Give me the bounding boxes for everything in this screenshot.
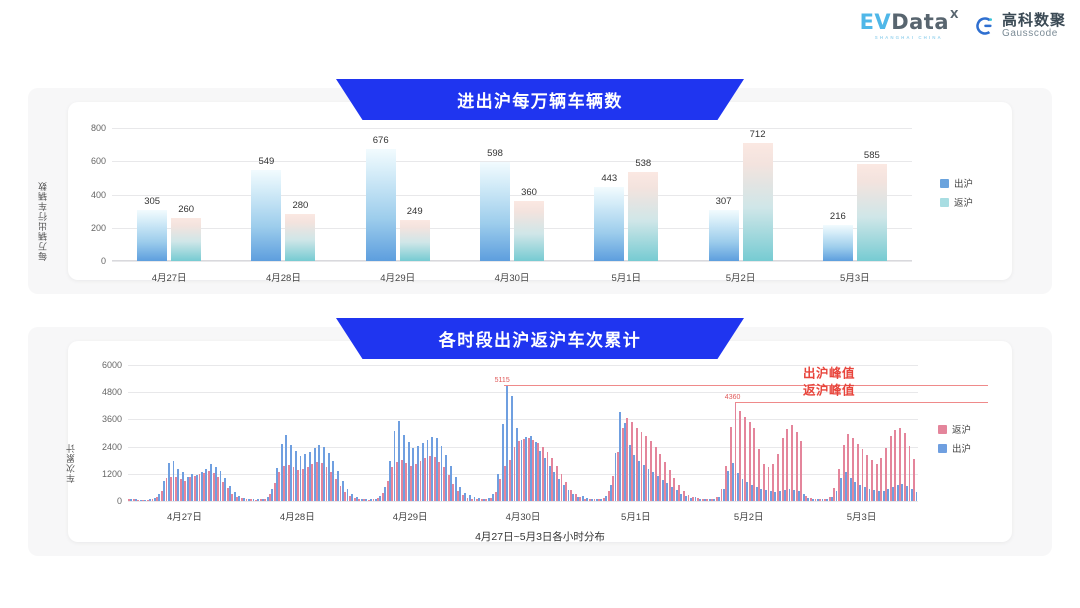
evdata-superscript: X <box>950 9 959 20</box>
slide-canvas: EVDataX SHANGHAI CHINA 高科数聚 Gausscode 进出… <box>0 0 1080 608</box>
y-axis-tick-label: 4800 <box>86 387 122 397</box>
bar-back[interactable]: 360 <box>514 201 544 261</box>
bar-value-label: 305 <box>144 196 160 207</box>
bar-out[interactable]: 443 <box>594 187 624 261</box>
bar-value-label: 249 <box>407 206 423 217</box>
bar-value-label: 280 <box>292 200 308 211</box>
peak-reference-line <box>504 385 988 386</box>
legend-item[interactable]: 出沪 <box>940 176 973 190</box>
x-axis-tick-label: 4月27日 <box>167 509 202 523</box>
gridline <box>128 419 918 420</box>
x-axis-tick-label: 5月1日 <box>621 509 651 523</box>
bar-back[interactable]: 249 <box>400 220 430 261</box>
y-axis-tick-label: 2400 <box>86 442 122 452</box>
evdata-wordmark: EVDataX <box>860 12 958 33</box>
chart-title-vehicles: 进出沪每万辆车辆数 <box>457 87 623 112</box>
gridline <box>112 195 912 196</box>
x-axis-tick-label: 4月30日 <box>506 509 541 523</box>
bar-out[interactable]: 676 <box>366 149 396 261</box>
grouped-bar-chart: 每万辆出行车辆数 3052605492806762495983604435383… <box>112 128 912 261</box>
bar-out[interactable]: 549 <box>251 170 281 261</box>
bar-value-label: 585 <box>864 150 880 161</box>
y-axis-title-vehicles: 每万辆出行车辆数 <box>36 134 49 261</box>
x-axis-tick-label: 5月3日 <box>840 270 870 284</box>
bar-back[interactable]: 712 <box>743 143 773 261</box>
bar-out[interactable]: 598 <box>480 162 510 261</box>
legend-label: 返沪 <box>954 195 973 209</box>
x-axis-tick-label: 4月29日 <box>380 270 415 284</box>
gridline <box>128 501 918 502</box>
legend-item[interactable]: 出沪 <box>938 441 971 455</box>
bar-value-label: 676 <box>373 135 389 146</box>
bar-back[interactable]: 585 <box>857 164 887 261</box>
gausscode-en-name: Gausscode <box>1002 29 1066 40</box>
x-axis-tick-label: 4月29日 <box>393 509 428 523</box>
hourly-bar-out[interactable] <box>916 492 918 501</box>
x-axis-caption-hourly: 4月27日~5月3日各小时分布 <box>475 529 605 544</box>
x-axis-tick-label: 4月27日 <box>152 270 187 284</box>
evdata-ev-text: EV <box>860 12 892 33</box>
y-axis-tick-label: 3600 <box>86 414 122 424</box>
gridline <box>112 228 912 229</box>
legend-swatch-icon <box>940 179 949 188</box>
y-axis-tick-label: 1200 <box>86 469 122 479</box>
evdata-data-text: Data <box>891 12 949 33</box>
bar-value-label: 216 <box>830 211 846 222</box>
gausscode-logo: 高科数聚 Gausscode <box>974 13 1066 39</box>
y-axis-tick-label: 600 <box>72 156 106 166</box>
evdata-tagline: SHANGHAI CHINA <box>875 35 943 40</box>
bar-back[interactable]: 538 <box>628 172 658 261</box>
gridline <box>112 261 912 262</box>
x-axis-tick-label: 4月30日 <box>495 270 530 284</box>
legend-swatch-icon <box>938 425 947 434</box>
bar-out[interactable]: 307 <box>709 210 739 261</box>
y-axis-tick-label: 800 <box>72 123 106 133</box>
x-axis-line <box>112 260 912 261</box>
chart-title-hourly: 各时段出沪返沪车次累计 <box>439 326 641 351</box>
y-axis-tick-label: 200 <box>72 223 106 233</box>
legend-item[interactable]: 返沪 <box>938 422 971 436</box>
bar-value-label: 598 <box>487 148 503 159</box>
chart-title-banner-vehicles: 进出沪每万辆车辆数 <box>336 79 744 120</box>
legend-label: 出沪 <box>954 176 973 190</box>
legend-label: 返沪 <box>952 422 971 436</box>
hourly-bar-chart: 车次累计 0120024003600480060004月27日4月28日4月29… <box>128 365 918 501</box>
peak-annotation-label: 返沪峰值 <box>803 380 855 399</box>
bar-back[interactable]: 260 <box>171 218 201 261</box>
y-axis-tick-label: 400 <box>72 190 106 200</box>
legend-swatch-icon <box>938 444 947 453</box>
y-axis-tick-label: 0 <box>72 256 106 266</box>
hourly-bar-back[interactable] <box>800 441 802 501</box>
bar-out[interactable]: 216 <box>823 225 853 261</box>
grouped-bar-plot-area: 3052605492806762495983604435383077122165… <box>112 128 912 261</box>
y-axis-title-hourly: 车次累计 <box>64 387 77 483</box>
x-axis-tick-label: 5月2日 <box>726 270 756 284</box>
gausscode-wordmark: 高科数聚 Gausscode <box>1002 13 1066 39</box>
evdata-logo: EVDataX SHANGHAI CHINA <box>860 12 958 40</box>
bar-value-label: 549 <box>258 156 274 167</box>
chart-title-banner-hourly: 各时段出沪返沪车次累计 <box>336 318 744 359</box>
gausscode-cn-name: 高科数聚 <box>1002 13 1066 29</box>
gridline <box>112 128 912 129</box>
legend-hourly: 返沪出沪 <box>938 422 971 455</box>
bar-out[interactable]: 305 <box>137 210 167 261</box>
x-axis-tick-label: 4月28日 <box>280 509 315 523</box>
x-axis-tick-label: 5月3日 <box>847 509 877 523</box>
bar-value-label: 443 <box>601 173 617 184</box>
peak-value-label: 4360 <box>725 394 741 401</box>
legend-swatch-icon <box>940 198 949 207</box>
bar-value-label: 360 <box>521 187 537 198</box>
legend-label: 出沪 <box>952 441 971 455</box>
legend-item[interactable]: 返沪 <box>940 195 973 209</box>
bar-value-label: 307 <box>716 196 732 207</box>
gridline <box>128 392 918 393</box>
peak-reference-line <box>735 402 988 403</box>
gridline <box>128 365 918 366</box>
g-circle-icon <box>974 15 996 37</box>
x-axis-tick-label: 5月1日 <box>611 270 641 284</box>
bar-value-label: 260 <box>178 204 194 215</box>
brand-logo-bar: EVDataX SHANGHAI CHINA 高科数聚 Gausscode <box>860 12 1066 40</box>
bar-value-label: 538 <box>635 158 651 169</box>
x-axis-tick-label: 5月2日 <box>734 509 764 523</box>
peak-value-label: 5115 <box>495 377 510 384</box>
gridline <box>112 161 912 162</box>
x-axis-tick-label: 4月28日 <box>266 270 301 284</box>
legend-vehicles: 出沪返沪 <box>940 176 973 209</box>
bar-value-label: 712 <box>750 129 766 140</box>
y-axis-tick-label: 0 <box>86 496 122 506</box>
bar-back[interactable]: 280 <box>285 214 315 261</box>
y-axis-tick-label: 6000 <box>86 360 122 370</box>
